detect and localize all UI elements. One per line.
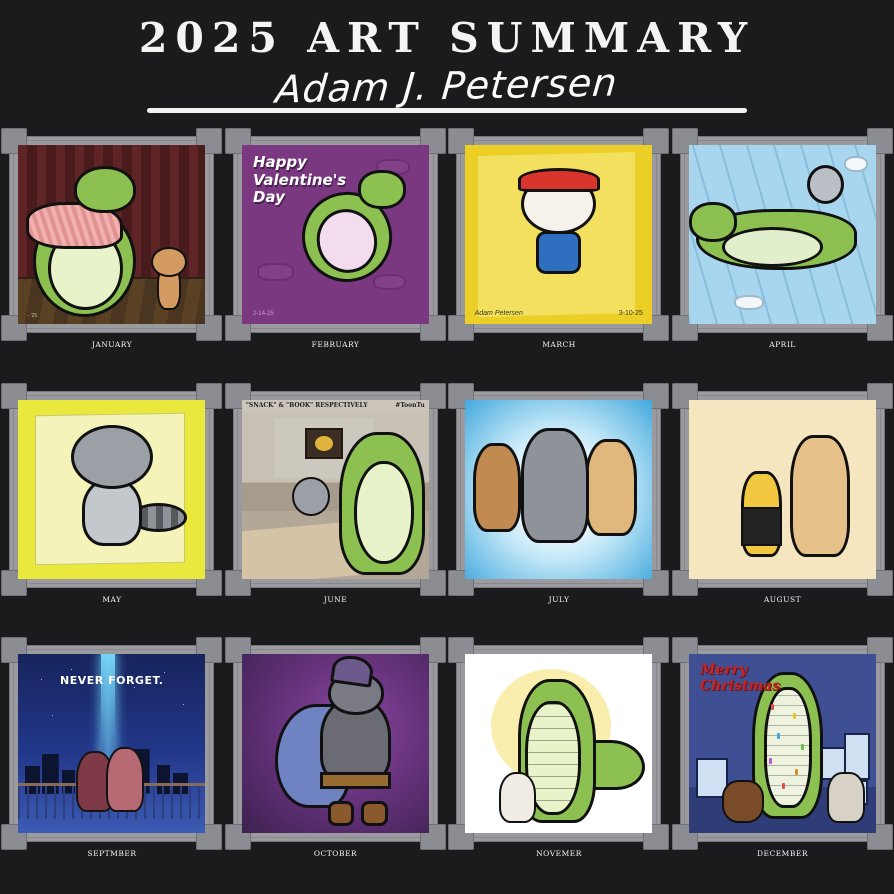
page-title: 2025 ART SUMMARY [0, 0, 894, 62]
caption-left: "SNACK" & "BOOK" RESPECTIVELY [246, 402, 368, 409]
month-label-august: AUGUST [671, 595, 894, 604]
month-label-july: JULY [447, 595, 671, 604]
artwork-july [465, 400, 652, 579]
month-label-september: SEPTMBER [0, 849, 224, 858]
month-label-january: JANUARY [0, 340, 224, 349]
artwork-frame: Adam Petersen 3-10-25 [456, 136, 661, 333]
artwork-november [465, 654, 652, 833]
month-label-october: OCTOBER [224, 849, 448, 858]
month-label-december: DECEMBER [671, 849, 894, 858]
greeting-line-1: Happy [253, 154, 350, 172]
panel-april[interactable]: APRIL [671, 130, 894, 385]
panel-november[interactable]: NOVEMER [447, 639, 671, 894]
artwork-may [18, 400, 205, 579]
memorial-caption: NEVER FORGET. [18, 674, 205, 687]
month-label-march: MARCH [447, 340, 671, 349]
month-label-november: NOVEMER [447, 849, 671, 858]
panel-october[interactable]: OCTOBER [224, 639, 448, 894]
greeting-line-2: Valentine's [253, 172, 350, 190]
artwork-frame: Happy Valentine's Day 2-14-25 [233, 136, 438, 333]
artwork-frame [233, 645, 438, 842]
panel-may[interactable]: MAY [0, 385, 224, 640]
panel-june[interactable]: "SNACK" & "BOOK" RESPECTIVELY #ToonTu JU… [224, 385, 448, 640]
artwork-frame: - '25 [9, 136, 214, 333]
artwork-june: "SNACK" & "BOOK" RESPECTIVELY #ToonTu [242, 400, 429, 579]
caption-right: #ToonTu [395, 402, 424, 409]
panel-september[interactable]: NEVER FORGET. SEPTMBER [0, 639, 224, 894]
artwork-february: Happy Valentine's Day 2-14-25 [242, 145, 429, 324]
artwork-april [689, 145, 876, 324]
artwork-frame: NEVER FORGET. [9, 645, 214, 842]
artwork-signature: Adam Petersen [475, 310, 523, 317]
artwork-october [242, 654, 429, 833]
panel-july[interactable]: JULY [447, 385, 671, 640]
artwork-january: - '25 [18, 145, 205, 324]
artwork-frame [456, 645, 661, 842]
artwork-frame [9, 391, 214, 588]
month-label-april: APRIL [671, 340, 894, 349]
panel-march[interactable]: Adam Petersen 3-10-25 MARCH [447, 130, 671, 385]
panel-december[interactable]: Merry Christmas DECEMBER [671, 639, 894, 894]
month-label-february: FEBRUARY [224, 340, 448, 349]
artwork-date: 3-10-25 [619, 310, 643, 317]
panel-february[interactable]: Happy Valentine's Day 2-14-25 FEBRUARY [224, 130, 448, 385]
artwork-frame [680, 391, 885, 588]
signature-underline [147, 108, 747, 113]
month-grid: - '25 JANUARY Happy Valentine's [0, 130, 894, 894]
greeting-line-3: Day [253, 189, 350, 207]
panel-january[interactable]: - '25 JANUARY [0, 130, 224, 385]
month-label-june: JUNE [224, 595, 448, 604]
greeting-line-1: Merry [700, 663, 794, 678]
greeting-line-2: Christmas [700, 679, 794, 694]
artist-signature: Adam J. Petersen [274, 56, 620, 115]
artwork-march: Adam Petersen 3-10-25 [465, 145, 652, 324]
artwork-frame: "SNACK" & "BOOK" RESPECTIVELY #ToonTu [233, 391, 438, 588]
valentine-greeting: Happy Valentine's Day [253, 154, 350, 207]
artwork-frame [680, 136, 885, 333]
meme-caption: "SNACK" & "BOOK" RESPECTIVELY #ToonTu [242, 400, 429, 411]
artwork-signature: - '25 [28, 313, 38, 319]
month-label-may: MAY [0, 595, 224, 604]
artwork-signature: 2-14-25 [253, 311, 274, 317]
christmas-greeting: Merry Christmas [700, 663, 794, 694]
artwork-september: NEVER FORGET. [18, 654, 205, 833]
artwork-frame: Merry Christmas [680, 645, 885, 842]
panel-august[interactable]: AUGUST [671, 385, 894, 640]
signature-block: Adam J. Petersen [0, 60, 894, 122]
artwork-december: Merry Christmas [689, 654, 876, 833]
artwork-frame [456, 391, 661, 588]
artwork-august [689, 400, 876, 579]
page-header: 2025 ART SUMMARY Adam J. Petersen [0, 0, 894, 130]
